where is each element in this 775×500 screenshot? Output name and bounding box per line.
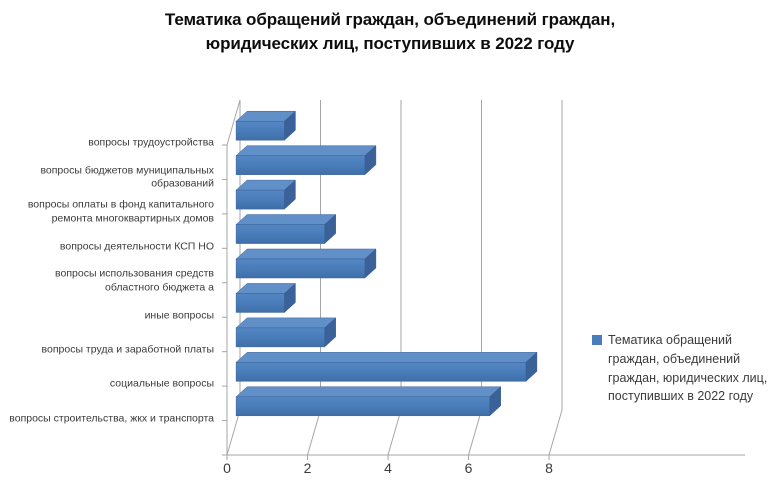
x-tick-label-3: 6 [465, 460, 473, 476]
bar-chart: Тематика обращений граждан, объединений … [0, 0, 775, 500]
x-tick-label-2: 4 [384, 460, 392, 476]
legend-label-series-1: Тематика обращений граждан, объединений … [608, 331, 768, 406]
x-tick-label-1: 2 [304, 460, 312, 476]
x-tick-label-0: 0 [223, 460, 231, 476]
legend-swatch-series-1 [592, 335, 602, 345]
chart-legend: Тематика обращений граждан, объединений … [592, 331, 772, 406]
x-tick-label-4: 8 [545, 460, 553, 476]
value-axis-labels: 02468 [0, 0, 775, 500]
